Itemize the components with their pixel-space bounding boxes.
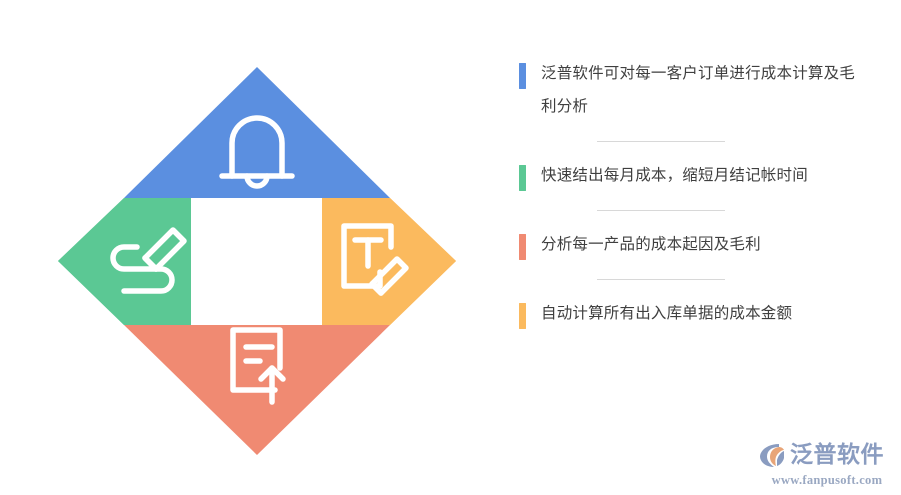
feature-item-4[interactable]: 自动计算所有出入库单据的成本金额 [519, 297, 855, 330]
feature-bar-2 [519, 165, 526, 191]
feature-text-4: 自动计算所有出入库单据的成本金额 [541, 297, 855, 330]
feature-item-3[interactable]: 分析每一产品的成本起因及毛利 [519, 228, 855, 261]
fanpu-swoosh-logo-icon [757, 440, 787, 470]
feature-separator-3 [597, 279, 725, 280]
logo-row: 泛普软件 [757, 440, 897, 470]
feature-bar-4 [519, 303, 526, 329]
logo-company-name: 泛普软件 [790, 444, 884, 467]
diamond-center-hole [191, 198, 322, 325]
feature-item-2[interactable]: 快速结出每月成本，缩短月结记帐时间 [519, 159, 855, 192]
feature-text-3: 分析每一产品的成本起因及毛利 [541, 228, 855, 261]
feature-list: 泛普软件可对每一客户订单进行成本计算及毛利分析 快速结出每月成本，缩短月结记帐时… [519, 57, 855, 330]
feature-text-1: 泛普软件可对每一客户订单进行成本计算及毛利分析 [541, 57, 855, 123]
diamond-infographic [50, 58, 466, 464]
brand-logo[interactable]: 泛普软件 www.fanpusoft.com [757, 440, 897, 490]
feature-bar-1 [519, 63, 526, 89]
feature-bar-3 [519, 234, 526, 260]
feature-item-1[interactable]: 泛普软件可对每一客户订单进行成本计算及毛利分析 [519, 57, 855, 123]
feature-separator-2 [597, 210, 725, 211]
feature-text-2: 快速结出每月成本，缩短月结记帐时间 [541, 159, 855, 192]
feature-separator-1 [597, 141, 725, 142]
logo-website-url: www.fanpusoft.com [757, 473, 897, 488]
diamond-quadrant-left[interactable] [58, 198, 191, 325]
slide-canvas: 泛普软件可对每一客户订单进行成本计算及毛利分析 快速结出每月成本，缩短月结记帐时… [0, 0, 901, 495]
